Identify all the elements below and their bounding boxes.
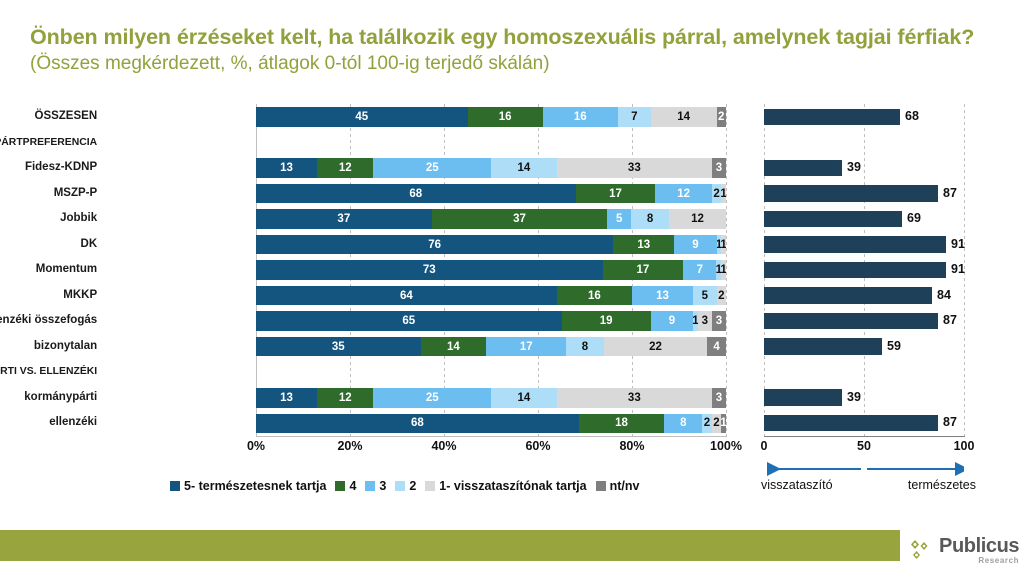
bar-track [256, 359, 726, 385]
segment-value: 68 [409, 188, 422, 200]
segment-value: 16 [588, 290, 601, 302]
mean-bar-chart: 6839876991918487593987 [764, 104, 964, 436]
mean-bar [764, 185, 938, 202]
x-tick-label: 80% [619, 439, 644, 453]
category-label: ÖSSZESEN [35, 104, 103, 130]
stack-segment: 1 [721, 184, 726, 204]
gridline [726, 104, 727, 436]
segment-value: 3 [716, 315, 722, 327]
segment-value: 9 [692, 239, 698, 251]
stack-segment: 13 [632, 286, 693, 306]
stack-segment: 5 [693, 286, 717, 306]
stack-segment: 2 [712, 414, 721, 434]
stack-segment: 1 [721, 235, 726, 255]
segment-value: 17 [520, 341, 533, 353]
category-label: KORMÁNYPÁRTI VS. ELLENZÉKI [0, 359, 102, 385]
stack-segment: 9 [674, 235, 716, 255]
stack-segment: 2 [717, 107, 726, 127]
mean-value-label: 59 [882, 337, 901, 356]
category-label: Fidesz-KDNP [25, 155, 102, 181]
mean-bar-row: 91 [764, 232, 964, 258]
stacked-bar-row: ÖSSZESEN4516167142 [104, 104, 726, 130]
segment-value: 9 [669, 315, 675, 327]
legend-item[interactable]: 4 [335, 479, 356, 493]
bar-track [256, 130, 726, 156]
segment-value: 68 [411, 417, 424, 429]
stack-segment: 12 [669, 209, 726, 229]
direction-scale: visszataszító természetes [764, 462, 969, 508]
mean-bar-row: 39 [764, 155, 964, 181]
chart-area: ÖSSZESEN4516167142PÁRTPREFERENCIAFidesz-… [0, 104, 1024, 504]
segment-value: 33 [628, 162, 641, 174]
stack-segment: 1 [721, 260, 726, 280]
legend-item[interactable]: 3 [365, 479, 386, 493]
bar-track: 7613911 [256, 232, 726, 258]
segment-value: 3 [716, 392, 722, 404]
stack-segment: 37 [432, 209, 608, 229]
stack-segment: 16 [543, 107, 618, 127]
category-label: bizonytalan [34, 334, 102, 360]
segment-value: 37 [513, 213, 526, 225]
stack-segment: 68 [256, 184, 576, 204]
segment-value: 12 [677, 188, 690, 200]
x-tick-label: 0% [247, 439, 265, 453]
legend-label: 5- természetesnek tartja [184, 479, 326, 493]
legend-item[interactable]: 5- természetesnek tartja [170, 479, 326, 493]
stack-segment: 33 [557, 388, 712, 408]
bar-track: 7317711 [256, 257, 726, 283]
stack-segment: 25 [373, 158, 491, 178]
stack-segment: 7 [683, 260, 716, 280]
chart-legend: 5- természetesnek tartja4321- visszatasz… [170, 479, 740, 493]
stack-segment: 17 [603, 260, 684, 280]
diamonds-logo-icon [908, 538, 934, 564]
category-label: Momentum [36, 257, 102, 283]
stacked-bar-row: Ellenzéki összefogás65199133 [104, 308, 726, 334]
x-tick-label: 40% [431, 439, 456, 453]
direction-tick-row [764, 442, 964, 460]
legend-label: 2 [409, 479, 416, 493]
segment-value: 7 [697, 264, 703, 276]
stack-segment: 7 [618, 107, 651, 127]
mean-value-label: 84 [932, 286, 951, 305]
mean-bar [764, 287, 932, 304]
mean-axis-line [764, 436, 965, 437]
segment-value: 12 [691, 213, 704, 225]
bar-track: 13122514333 [256, 385, 726, 411]
segment-value: 19 [600, 315, 613, 327]
segment-value: 5 [616, 213, 622, 225]
bar-track: 65199133 [256, 308, 726, 334]
stack-segment: 2 [702, 414, 711, 434]
stack-segment: 18 [579, 414, 664, 434]
stack-segment: 13 [256, 388, 317, 408]
x-tick-label: 100% [710, 439, 742, 453]
segment-value: 76 [428, 239, 441, 251]
stack-segment: 3 [712, 311, 726, 331]
stack-segment: 17 [486, 337, 566, 357]
stack-segment: 22 [604, 337, 707, 357]
segment-value: 4 [713, 341, 719, 353]
segment-value: 14 [517, 392, 530, 404]
logo-wordmark: Publicus [939, 536, 1019, 556]
mean-bar [764, 338, 882, 355]
legend-label: 3 [379, 479, 386, 493]
stack-segment: 33 [557, 158, 712, 178]
stacked-bar-row: Momentum7317711 [104, 257, 726, 283]
category-label: Jobbik [60, 206, 102, 232]
stacked-bar-row: Jobbik37375812 [104, 206, 726, 232]
segment-value: 13 [280, 162, 293, 174]
stack-segment: 9 [651, 311, 693, 331]
segment-value: 25 [426, 162, 439, 174]
stack-segment: 13 [256, 158, 317, 178]
mean-bar-row: 39 [764, 385, 964, 411]
logo-tagline: Research [978, 557, 1019, 565]
stack-segment: 37 [256, 209, 432, 229]
category-label: DK [81, 232, 103, 258]
direction-arrow-icon [764, 462, 964, 476]
mean-bar [764, 236, 946, 253]
segment-value: 2 [718, 290, 724, 302]
segment-value: 37 [337, 213, 350, 225]
category-label: MSZP-P [54, 181, 102, 207]
segment-value: 13 [656, 290, 669, 302]
title-main: Önben milyen érzéseket kelt, ha találkoz… [30, 25, 974, 49]
stack-segment: 8 [566, 337, 604, 357]
segment-value: 1 [721, 188, 726, 200]
stack-segment: 17 [576, 184, 656, 204]
mean-value-label: 39 [842, 388, 861, 407]
legend-swatch-icon [170, 481, 180, 491]
stack-segment: 12 [317, 388, 373, 408]
stacked-bar: 4516167142 [256, 107, 726, 127]
mean-bar [764, 415, 938, 432]
legend-label: nt/nv [610, 479, 640, 493]
segment-value: 73 [423, 264, 436, 276]
mean-value-label: 68 [900, 107, 919, 126]
segment-value: 17 [637, 264, 650, 276]
slide-root: Önben milyen érzéseket kelt, ha találkoz… [0, 0, 1024, 576]
segment-value: 33 [628, 392, 641, 404]
stack-segment: 3 [712, 388, 726, 408]
x-tick-label: 60% [525, 439, 550, 453]
mean-bar [764, 160, 842, 177]
mean-bar [764, 313, 938, 330]
bar-track: 64161352 [256, 283, 726, 309]
bar-track: 37375812 [256, 206, 726, 232]
legend-item[interactable]: 1- visszataszítónak tartja [425, 479, 586, 493]
mean-bar [764, 211, 902, 228]
segment-value: 64 [400, 290, 413, 302]
stack-segment: 4 [707, 337, 726, 357]
mean-row-empty [764, 359, 964, 385]
stack-segment: 14 [491, 388, 557, 408]
mean-value-label: 69 [902, 209, 921, 228]
stacked-bar-row: kormánypárti13122514333 [104, 385, 726, 411]
title-subtitle: (Összes megkérdezett, %, átlagok 0-tól 1… [30, 53, 550, 74]
stacked-bar: 68188221 [256, 414, 726, 434]
segment-value: 7 [631, 111, 637, 123]
segment-value: 2 [704, 417, 710, 429]
legend-label: 4 [349, 479, 356, 493]
segment-value: 18 [615, 417, 628, 429]
stack-segment: 3 [712, 158, 726, 178]
mean-row-empty [764, 130, 964, 156]
stacked-bar-row: Fidesz-KDNP13122514333 [104, 155, 726, 181]
mean-value-label: 91 [946, 235, 965, 254]
stacked-bar-chart: ÖSSZESEN4516167142PÁRTPREFERENCIAFidesz-… [104, 104, 726, 436]
category-label: ellenzéki [49, 410, 102, 436]
x-tick-label: 20% [337, 439, 362, 453]
legend-swatch-icon [335, 481, 345, 491]
segment-value: 8 [647, 213, 653, 225]
stack-segment: 12 [655, 184, 711, 204]
mean-bar-row: 87 [764, 181, 964, 207]
stacked-bar: 37375812 [256, 209, 726, 229]
page-title: Önben milyen érzéseket kelt, ha találkoz… [30, 24, 1005, 76]
segment-value: 2 [718, 111, 724, 123]
segment-value: 14 [447, 341, 460, 353]
segment-value: 25 [426, 392, 439, 404]
stack-segment: 19 [562, 311, 651, 331]
mean-bar [764, 109, 900, 126]
segment-value: 1 [721, 417, 726, 429]
stack-segment: 1 [721, 414, 726, 434]
mean-bar-row: 87 [764, 308, 964, 334]
stack-segment: 65 [256, 311, 562, 331]
bar-track: 4516167142 [256, 104, 726, 130]
segment-value: 14 [677, 111, 690, 123]
segment-value: 22 [649, 341, 662, 353]
category-group-header: PÁRTPREFERENCIA [104, 130, 726, 156]
mean-value-label: 39 [842, 158, 861, 177]
mean-value-label: 87 [938, 184, 957, 203]
mean-bar-row: 68 [764, 104, 964, 130]
legend-label: 1- visszataszítónak tartja [439, 479, 586, 493]
stack-segment: 5 [607, 209, 631, 229]
stack-segment: 14 [491, 158, 557, 178]
stacked-bar: 7317711 [256, 260, 726, 280]
stack-segment: 12 [317, 158, 373, 178]
stacked-bar: 65199133 [256, 311, 726, 331]
stack-segment: 8 [631, 209, 669, 229]
stack-segment: 2 [717, 286, 726, 306]
mean-bar [764, 389, 842, 406]
mean-bar-row: 84 [764, 283, 964, 309]
category-label: MKKP [63, 283, 102, 309]
stack-segment: 73 [256, 260, 603, 280]
legend-swatch-icon [365, 481, 375, 491]
segment-value: 2 [713, 417, 719, 429]
stack-segment: 2 [712, 184, 721, 204]
segment-value: 12 [339, 162, 352, 174]
segment-value: 45 [355, 111, 368, 123]
stacked-bar: 7613911 [256, 235, 726, 255]
category-label: kormánypárti [24, 385, 102, 411]
category-group-header: KORMÁNYPÁRTI VS. ELLENZÉKI [104, 359, 726, 385]
segment-value: 8 [680, 417, 686, 429]
segment-value: 2 [713, 188, 719, 200]
legend-swatch-icon [425, 481, 435, 491]
segment-value: 5 [702, 290, 708, 302]
segment-value: 16 [499, 111, 512, 123]
bar-track: 13122514333 [256, 155, 726, 181]
mean-value-label: 87 [938, 311, 957, 330]
stack-segment: 76 [256, 235, 613, 255]
segment-value: 12 [339, 392, 352, 404]
stacked-bar: 13122514333 [256, 158, 726, 178]
mean-bar-row: 59 [764, 334, 964, 360]
bar-track: 68171221 [256, 181, 726, 207]
stacked-bar: 68171221 [256, 184, 726, 204]
stack-segment: 16 [468, 107, 543, 127]
segment-value: 13 [280, 392, 293, 404]
legend-swatch-icon [596, 481, 606, 491]
stack-segment: 14 [421, 337, 487, 357]
segment-value: 14 [517, 162, 530, 174]
segment-value: 1 [721, 264, 726, 276]
stacked-x-axis-ticks: 0%20%40%60%80%100% [256, 439, 726, 459]
segment-value: 16 [574, 111, 587, 123]
footer-bar [0, 530, 900, 561]
bar-track: 3514178224 [256, 334, 726, 360]
stacked-bar-row: MSZP-P68171221 [104, 181, 726, 207]
publicus-logo: Publicus Research [908, 536, 1019, 565]
mean-value-label: 87 [938, 413, 957, 432]
direction-label-right: természetes [908, 478, 976, 492]
segment-value: 1 [721, 239, 726, 251]
stacked-bar-row: bizonytalan3514178224 [104, 334, 726, 360]
stacked-bar: 13122514333 [256, 388, 726, 408]
segment-value: 17 [609, 188, 622, 200]
stack-segment: 64 [256, 286, 557, 306]
bar-track: 68188221 [256, 410, 726, 436]
stack-segment: 45 [256, 107, 468, 127]
stacked-bar: 3514178224 [256, 337, 726, 357]
stack-segment: 16 [557, 286, 632, 306]
mean-bar-row: 69 [764, 206, 964, 232]
category-label: Ellenzéki összefogás [0, 308, 102, 334]
stacked-bar: 64161352 [256, 286, 726, 306]
stack-segment: 25 [373, 388, 491, 408]
segment-value: 3 [716, 162, 722, 174]
legend-item[interactable]: nt/nv [596, 479, 640, 493]
stack-segment: 8 [664, 414, 702, 434]
mean-value-label: 91 [946, 260, 965, 279]
stacked-bar-row: DK7613911 [104, 232, 726, 258]
mean-bar-row: 91 [764, 257, 964, 283]
stack-segment: 35 [256, 337, 421, 357]
stacked-bar-row: MKKP64161352 [104, 283, 726, 309]
direction-label-left: visszataszító [761, 478, 833, 492]
stacked-axis-line [256, 436, 727, 437]
stacked-bar-row: ellenzéki68188221 [104, 410, 726, 436]
segment-value: 3 [702, 315, 708, 327]
legend-item[interactable]: 2 [395, 479, 416, 493]
mean-bar [764, 262, 946, 279]
segment-value: 35 [332, 341, 345, 353]
stack-segment: 68 [256, 414, 579, 434]
segment-value: 8 [582, 341, 588, 353]
stack-segment: 14 [651, 107, 717, 127]
segment-value: 65 [402, 315, 415, 327]
segment-value: 13 [637, 239, 650, 251]
stack-segment: 13 [613, 235, 674, 255]
category-label: PÁRTPREFERENCIA [0, 130, 102, 156]
legend-swatch-icon [395, 481, 405, 491]
stack-segment: 3 [698, 311, 712, 331]
mean-bar-row: 87 [764, 410, 964, 436]
